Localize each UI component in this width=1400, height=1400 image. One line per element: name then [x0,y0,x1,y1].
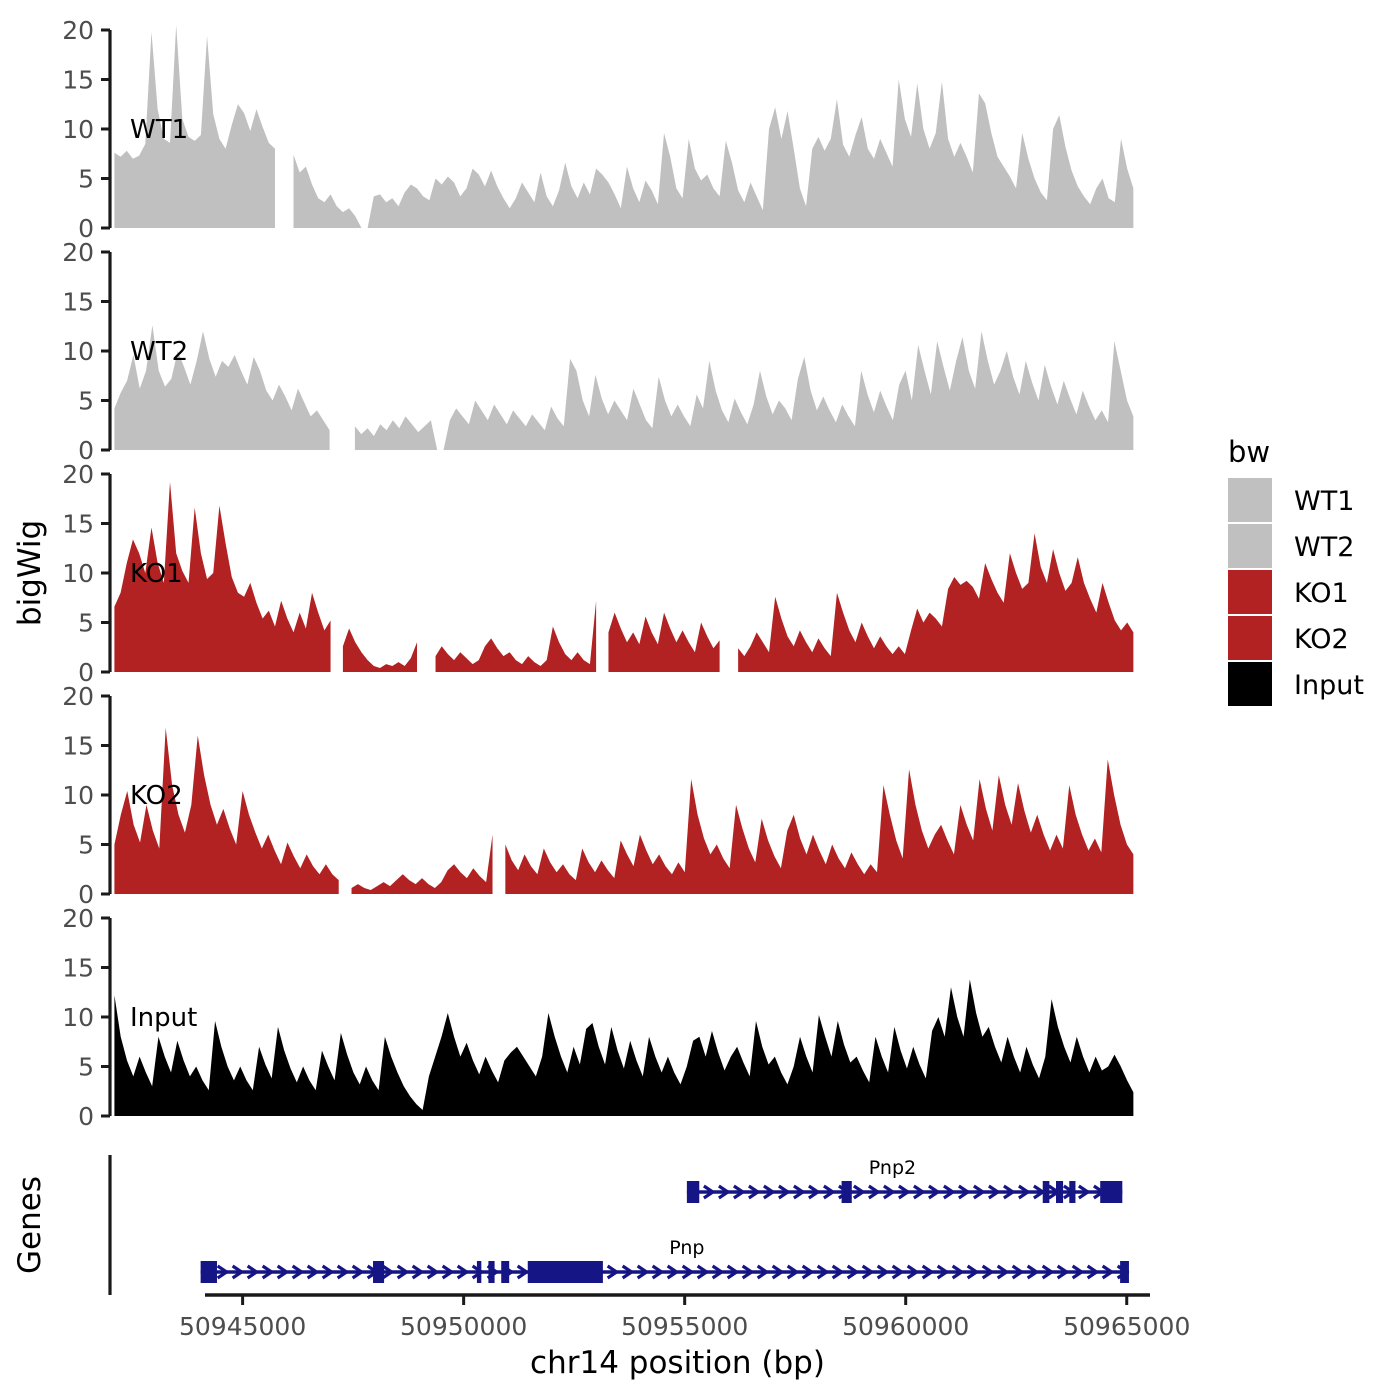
gene-exon-Pnp-5 [528,1261,603,1283]
y-tick-label-WT2-20: 20 [62,238,94,267]
x-tick-label-50945000: 50945000 [179,1312,306,1341]
legend-title: bw [1228,435,1270,469]
gene-exon-Pnp-6 [1120,1261,1129,1283]
x-tick-label-50950000: 50950000 [400,1312,527,1341]
y-tick-label-KO1-5: 5 [78,609,94,638]
signal-area-Input-0 [114,979,1133,1116]
legend-swatch-Input [1228,662,1272,706]
y-tick-label-KO2-15: 15 [62,732,94,761]
y-tick-label-Input-20: 20 [62,904,94,933]
figure-root: 05101520WT105101520WT205101520KO10510152… [0,0,1400,1400]
y-tick-label-WT1-5: 5 [78,165,94,194]
track-panel-KO2: 05101520KO2 [62,682,1133,909]
gene-Pnp2[interactable]: Pnp2 [687,1157,1122,1203]
track-label-WT1: WT1 [130,115,188,145]
gene-Pnp[interactable]: Pnp [201,1237,1129,1283]
x-tick-label-50965000: 50965000 [1063,1312,1190,1341]
track-panel-WT2: 05101520WT2 [62,238,1133,465]
gene-exon-Pnp2-1 [842,1181,852,1203]
gene-exon-Pnp-4 [501,1261,509,1283]
legend-swatch-KO2 [1228,616,1272,660]
legend-item-KO2[interactable]: KO2 [1228,616,1349,660]
gene-exon-Pnp2-5 [1100,1181,1122,1203]
signal-area-KO1-3 [608,613,719,672]
y-tick-label-Input-15: 15 [62,954,94,983]
y-tick-label-KO2-5: 5 [78,831,94,860]
y-tick-label-WT2-10: 10 [62,337,94,366]
gene-exon-Pnp-2 [477,1261,481,1283]
y-tick-label-WT1-15: 15 [62,66,94,95]
gene-label-Pnp2: Pnp2 [869,1157,916,1179]
y-tick-label-WT1-20: 20 [62,16,94,45]
legend-item-WT1[interactable]: WT1 [1228,478,1354,522]
track-panel-KO1: 05101520KO1 [62,460,1133,687]
genome-browser-figure: 05101520WT105101520WT205101520KO10510152… [0,0,1400,1400]
signal-area-KO1-1 [343,628,417,672]
legend-label-WT2: WT2 [1294,532,1354,563]
gene-exon-Pnp2-4 [1069,1181,1075,1203]
legend-swatch-WT2 [1228,524,1272,568]
y-tick-label-WT1-10: 10 [62,115,94,144]
y-tick-label-KO2-10: 10 [62,781,94,810]
track-label-KO2: KO2 [130,781,183,811]
legend-item-KO1[interactable]: KO1 [1228,570,1349,614]
signal-area-WT1-1 [294,80,1134,229]
gene-label-Pnp: Pnp [669,1237,704,1259]
track-label-WT2: WT2 [130,337,188,367]
gene-exon-Pnp2-0 [687,1181,699,1203]
gene-exon-Pnp-0 [201,1261,217,1283]
legend-label-Input: Input [1294,670,1364,701]
y-tick-label-KO1-10: 10 [62,559,94,588]
y-tick-label-WT2-5: 5 [78,387,94,416]
y-tick-label-WT2-15: 15 [62,288,94,317]
y-tick-label-KO1-20: 20 [62,460,94,489]
track-panel-WT1: 05101520WT1 [62,16,1133,243]
signal-area-KO1-2 [436,601,597,672]
signal-area-WT2-1 [355,331,1133,450]
y-tick-label-KO1-15: 15 [62,510,94,539]
y-tick-label-Input-0: 0 [78,1102,94,1131]
gene-exon-Pnp2-3 [1056,1181,1063,1203]
signal-area-KO1-4 [738,533,1133,672]
legend-swatch-WT1 [1228,478,1272,522]
track-label-Input: Input [130,1003,197,1033]
signal-area-KO2-2 [505,759,1133,894]
legend-label-KO1: KO1 [1294,578,1349,609]
y-tick-label-KO2-20: 20 [62,682,94,711]
gene-exon-Pnp-3 [488,1261,494,1283]
legend-label-WT1: WT1 [1294,486,1354,517]
x-axis-title: chr14 position (bp) [530,1345,825,1381]
legend-label-KO2: KO2 [1294,624,1349,655]
y-axis-title: bigWig [12,520,48,626]
legend-swatch-KO1 [1228,570,1272,614]
track-panel-Input: 05101520Input [62,904,1133,1131]
signal-area-KO2-1 [352,835,493,894]
y-tick-label-Input-5: 5 [78,1053,94,1082]
legend-item-Input[interactable]: Input [1228,662,1364,706]
x-tick-label-50955000: 50955000 [621,1312,748,1341]
track-label-KO1: KO1 [130,559,183,589]
y-tick-label-Input-10: 10 [62,1003,94,1032]
gene-exon-Pnp2-2 [1043,1181,1050,1203]
genes-axis-title: Genes [12,1176,48,1274]
legend-item-WT2[interactable]: WT2 [1228,524,1354,568]
gene-exon-Pnp-1 [373,1261,384,1283]
x-tick-label-50960000: 50960000 [842,1312,969,1341]
